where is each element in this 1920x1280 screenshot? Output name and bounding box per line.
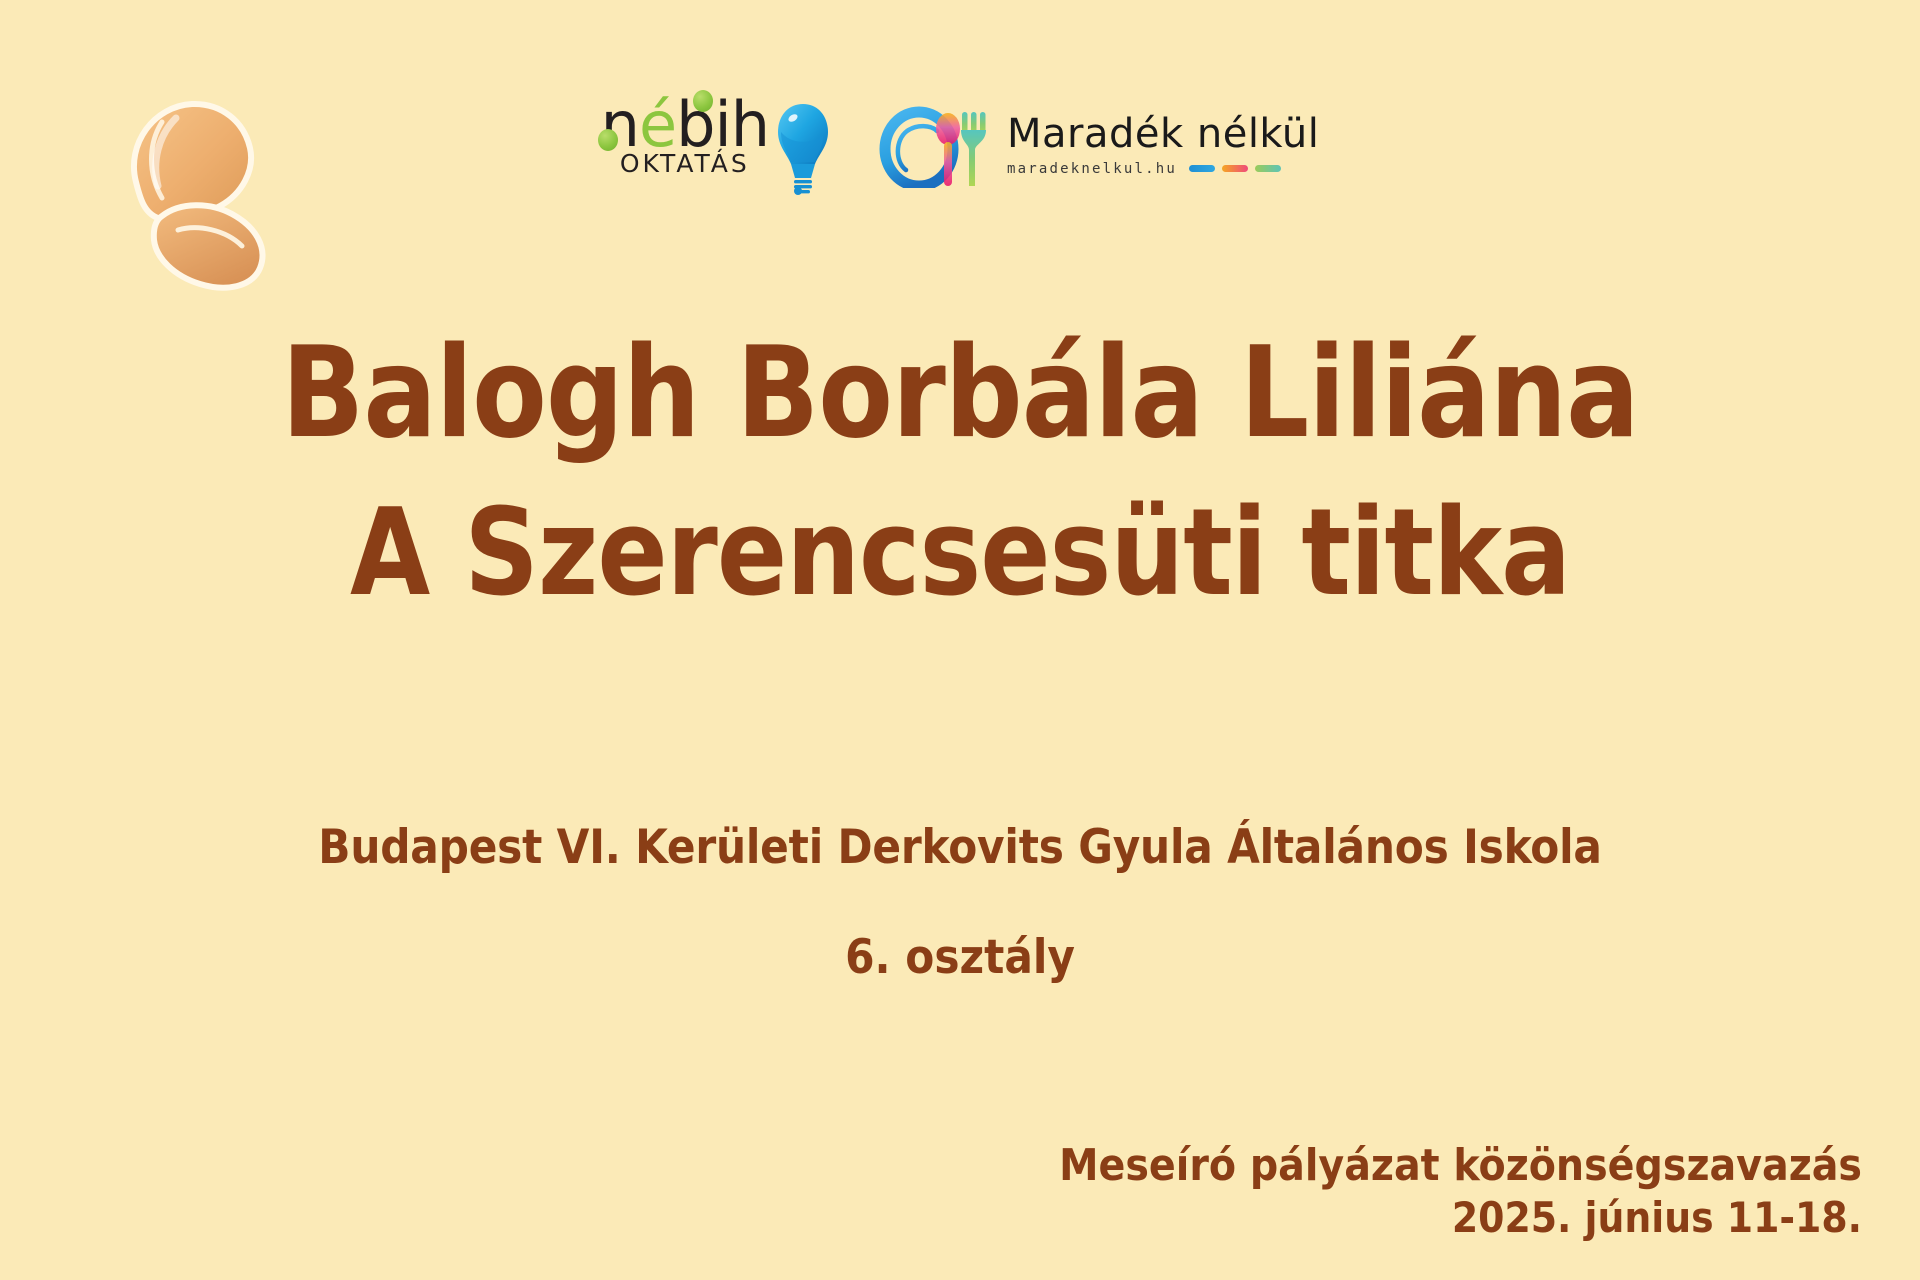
dash-orange-icon — [1222, 165, 1248, 172]
story-title: A Szerencsesüti titka — [38, 494, 1881, 614]
nebih-wordmark: nébih — [601, 96, 769, 153]
maradek-nelkul-logo: Maradék nélkül maradeknelkul.hu — [875, 102, 1319, 188]
nebih-letters-bih: bih — [676, 88, 769, 161]
footer-block: Meseíró pályázat közönségszavazás 2025. … — [1059, 1140, 1862, 1244]
author-name: Balogh Borbála Liliána — [38, 330, 1881, 456]
grade-label: 6. osztály — [0, 930, 1920, 985]
dash-green-icon — [1255, 165, 1281, 172]
slide-canvas: nébih OKTATÁS — [0, 0, 1920, 1280]
nebih-logo: nébih OKTATÁS — [601, 96, 831, 198]
nebih-dot-left-icon — [598, 129, 618, 151]
maradek-nelkul-dashes — [1189, 165, 1281, 172]
maradek-nelkul-url: maradeknelkul.hu — [1007, 161, 1177, 177]
maradek-nelkul-title: Maradék nélkül — [1007, 114, 1319, 154]
title-block: Balogh Borbála Liliána A Szerencsesüti t… — [0, 330, 1920, 614]
logo-bar: nébih OKTATÁS — [0, 96, 1920, 198]
nebih-dot-right-icon — [693, 90, 713, 112]
plate-spoon-fork-icon — [875, 102, 993, 188]
school-name: Budapest VI. Kerületi Derkovits Gyula Ál… — [0, 820, 1920, 875]
footer-date: 2025. június 11-18. — [1059, 1192, 1862, 1245]
footer-event: Meseíró pályázat közönségszavazás — [1059, 1140, 1862, 1192]
dash-blue-icon — [1189, 165, 1215, 172]
lightbulb-icon — [775, 102, 831, 198]
nebih-letter-e: é — [639, 88, 676, 161]
